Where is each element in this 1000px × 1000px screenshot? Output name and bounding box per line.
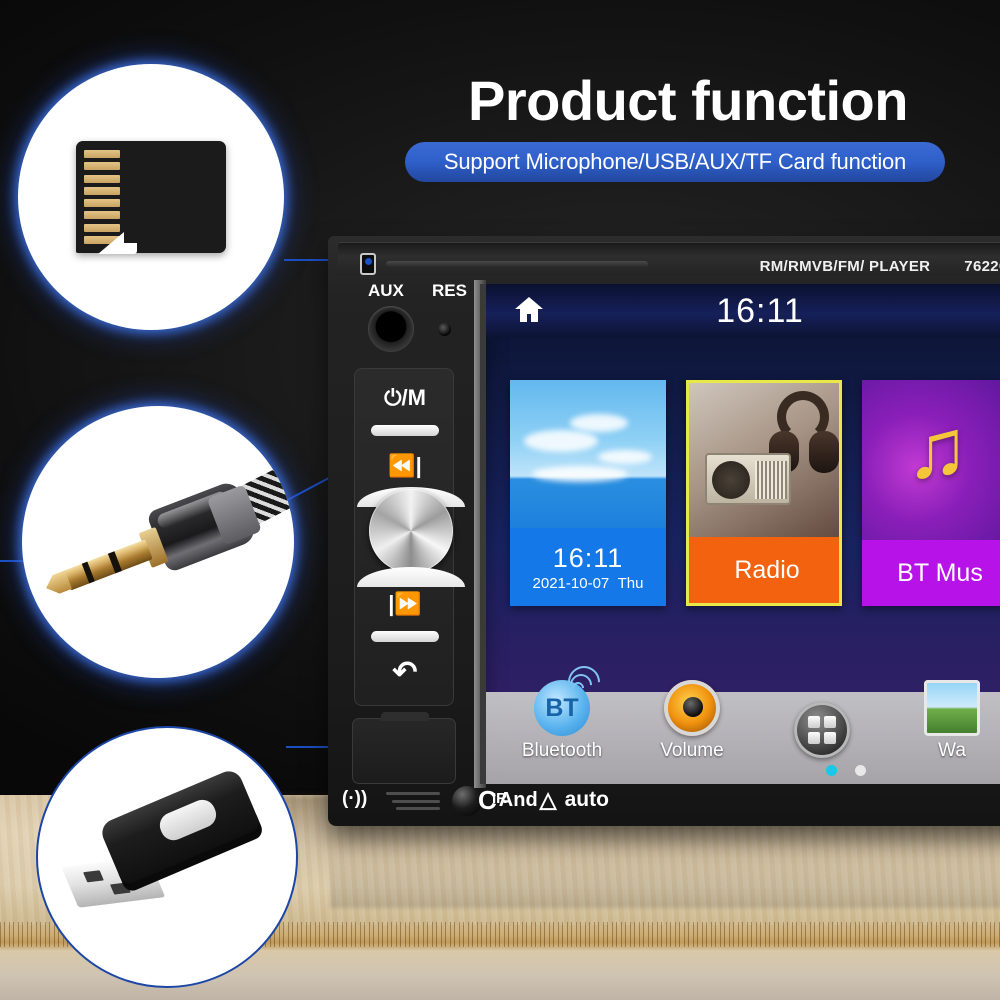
subtitle-text: Support Microphone/USB/AUX/TF Card funct… [444, 149, 906, 175]
clock-tile-thumb [510, 380, 666, 540]
bluetooth-signal-waves [570, 666, 604, 700]
touchscreen-display[interactable]: 16:11 16:11 2021-10-07 Thu [480, 284, 1000, 784]
speaker-icon[interactable] [664, 680, 720, 736]
usb-flash-drive-icon [44, 757, 291, 956]
microsd-card-icon [76, 141, 226, 253]
microphone-icon: (·)) [342, 788, 367, 810]
bluetooth-icon[interactable]: BT [534, 680, 590, 736]
page-dot-2[interactable] [855, 765, 866, 776]
clock-tile-caption: 16:11 2021-10-07 Thu [510, 528, 666, 606]
aux-plug-shaft [63, 539, 153, 590]
subtitle-banner: Support Microphone/USB/AUX/TF Card funct… [405, 142, 945, 182]
next-button-bar[interactable] [371, 631, 439, 642]
control-column: AUX RES ⏻/M ⏪| |⏩ ↶ [340, 278, 468, 798]
dock-item-bluetooth[interactable]: BT Bluetooth [516, 680, 608, 784]
knob-wing-bottom [357, 567, 465, 587]
status-clock: 16:11 [486, 284, 1000, 338]
callout-tf-card [18, 64, 284, 330]
app-tile-row: 16:11 2021-10-07 Thu Radio [510, 380, 1000, 606]
aux-port-label: AUX [368, 281, 404, 301]
dock-label-wallpaper: Wa [906, 740, 998, 762]
vintage-radio-art [705, 453, 791, 505]
radio-tile-caption: Radio [689, 537, 842, 603]
tile-clock[interactable]: 16:11 2021-10-07 Thu [510, 380, 666, 606]
port-label-row: AUX RES [340, 280, 468, 302]
dock-item-row: BT Bluetooth Volume Wa [486, 666, 1000, 784]
model-number: 7622C [964, 258, 1000, 275]
apps-grid-icon[interactable] [794, 702, 850, 758]
page-dot-1[interactable] [826, 765, 837, 776]
bt-music-tile-thumb: ♫ [862, 380, 1000, 540]
volume-knob[interactable] [369, 489, 453, 573]
brand-and: And [499, 789, 538, 812]
stereo-top-strip: RM/RMVB/FM/ PLAYER 7622C [338, 242, 1000, 276]
stereo-model-bar: RM/RMVB/FM/ PLAYER 7622C [710, 255, 1000, 277]
dock-label-bluetooth: Bluetooth [516, 740, 608, 762]
reset-pinhole[interactable] [438, 323, 451, 336]
format-support-text: RM/RMVB/FM/ PLAYER [760, 258, 931, 275]
music-note-icon: ♫ [906, 406, 969, 490]
page-title: Product function [408, 66, 968, 136]
car-stereo-unit: RM/RMVB/FM/ PLAYER 7622C AUX RES ⏻/M ⏪| … [328, 236, 1000, 826]
wallpaper-icon[interactable] [924, 680, 980, 736]
callout-aux-cable [22, 406, 294, 678]
radio-tile-thumb [689, 383, 842, 543]
dock-label-volume: Volume [646, 740, 738, 762]
speaker-grille [386, 792, 440, 810]
apps-grid-squares [808, 716, 836, 744]
bt-music-tile-caption: BT Mus [862, 540, 1000, 606]
top-vent-slot [386, 261, 648, 267]
dock-item-wallpaper[interactable]: Wa [906, 680, 998, 784]
clock-tile-date: 2021-10-07 Thu [533, 575, 644, 592]
brand-c: C [478, 785, 497, 816]
aux-input-jack[interactable] [368, 306, 414, 352]
tile-bt-music[interactable]: ♫ BT Mus [862, 380, 1000, 606]
clock-tile-time: 16:11 [553, 543, 624, 574]
device-reflection [330, 826, 1000, 908]
next-track-button[interactable]: |⏩ [355, 591, 455, 617]
back-button[interactable]: ↶ [355, 655, 455, 690]
power-mode-button[interactable]: ⏻/M [355, 385, 455, 411]
usb-port-slot[interactable] [352, 718, 456, 784]
aux-plug-icon [22, 437, 294, 648]
tile-radio[interactable]: Radio [686, 380, 842, 606]
reset-label: RES [432, 281, 467, 301]
callout-usb-drive [36, 726, 298, 988]
brand-auto: auto [565, 788, 609, 812]
button-panel: ⏻/M ⏪| |⏩ ↶ [354, 368, 454, 706]
brand-triangle-icon: △ [540, 787, 557, 813]
power-button-bar[interactable] [371, 425, 439, 436]
page-indicator-dots[interactable] [826, 765, 866, 776]
dock-item-volume[interactable]: Volume [646, 680, 738, 784]
brand-logo: C And △ auto [478, 782, 738, 818]
tf-card-slot[interactable] [360, 253, 376, 275]
prev-track-button[interactable]: ⏪| [355, 453, 455, 479]
microsd-contacts [84, 150, 120, 244]
